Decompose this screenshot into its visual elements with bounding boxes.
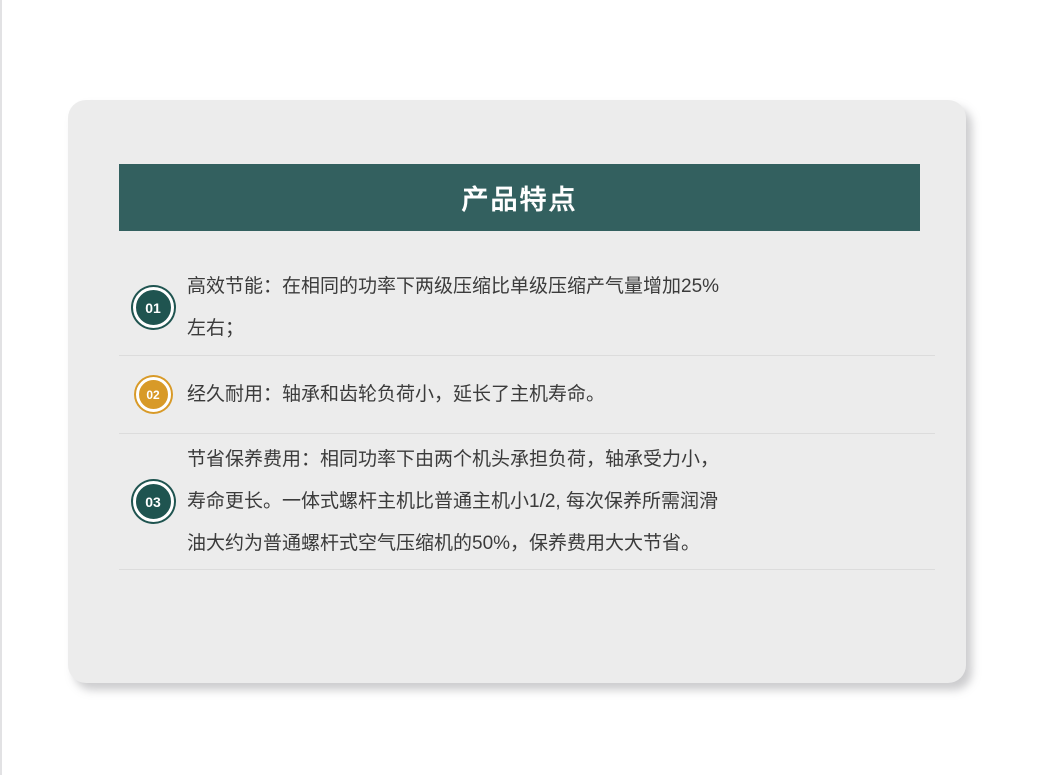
page-left-edge-line — [0, 0, 2, 775]
list-item: 02 经久耐用：轴承和齿轮负荷小，延长了主机寿命。 — [119, 356, 935, 434]
list-item: 01 高效节能：在相同的功率下两级压缩比单级压缩产气量增加25% 左右； — [119, 260, 935, 356]
page-title: 产品特点 — [462, 178, 578, 217]
feature-text: 高效节能：在相同的功率下两级压缩比单级压缩产气量增加25% 左右； — [187, 266, 935, 350]
feature-text: 经久耐用：轴承和齿轮负荷小，延长了主机寿命。 — [187, 374, 935, 416]
badge-column: 01 — [119, 287, 187, 328]
feature-text-line: 节省保养费用：相同功率下由两个机头承担负荷，轴承受力小， — [187, 439, 931, 481]
product-features-card: 产品特点 01 高效节能：在相同的功率下两级压缩比单级压缩产气量增加25% 左右… — [68, 100, 966, 683]
feature-list: 01 高效节能：在相同的功率下两级压缩比单级压缩产气量增加25% 左右； 02 … — [119, 260, 935, 570]
feature-text-line: 经久耐用：轴承和齿轮负荷小，延长了主机寿命。 — [187, 374, 931, 416]
feature-text-line: 高效节能：在相同的功率下两级压缩比单级压缩产气量增加25% — [187, 266, 931, 308]
card-header-banner: 产品特点 — [119, 164, 920, 231]
list-item: 03 节省保养费用：相同功率下由两个机头承担负荷，轴承受力小， 寿命更长。一体式… — [119, 434, 935, 570]
step-number-badge: 03 — [133, 481, 174, 522]
feature-text-line: 油大约为普通螺杆式空气压缩机的50%，保养费用大大节省。 — [187, 523, 931, 565]
feature-text: 节省保养费用：相同功率下由两个机头承担负荷，轴承受力小， 寿命更长。一体式螺杆主… — [187, 439, 935, 565]
badge-column: 03 — [119, 481, 187, 522]
feature-text-line: 寿命更长。一体式螺杆主机比普通主机小1/2, 每次保养所需润滑 — [187, 481, 931, 523]
feature-text-line: 左右； — [187, 308, 931, 350]
badge-column: 02 — [119, 377, 187, 412]
step-number-badge: 02 — [136, 377, 171, 412]
step-number-badge: 01 — [133, 287, 174, 328]
